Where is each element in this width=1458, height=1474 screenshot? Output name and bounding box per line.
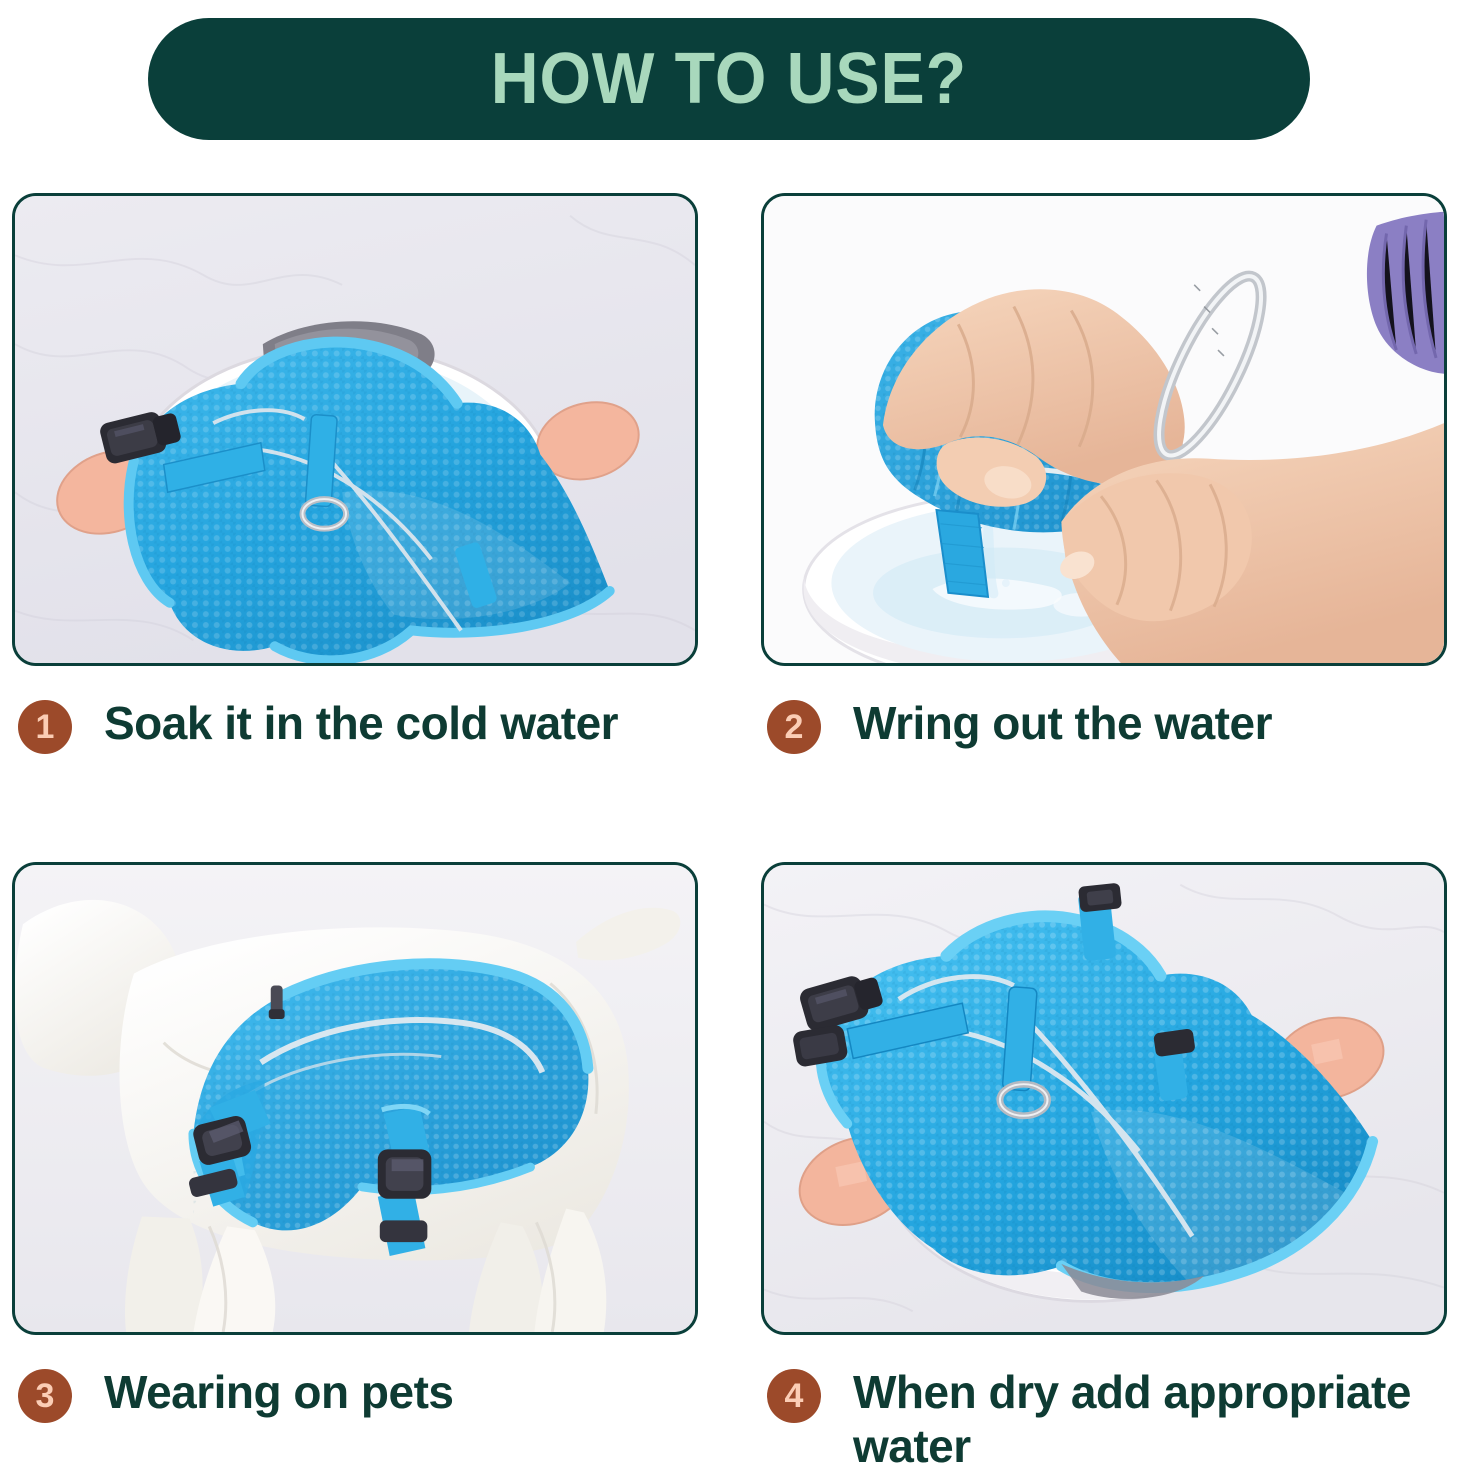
steps-grid: 1 Soak it in the cold water [0,0,1458,1458]
step-2-label: Wring out the water [853,696,1272,750]
step-3-photo [12,862,698,1335]
wringing-harness-illustration [764,196,1444,663]
harness-soaking-illustration [15,196,695,663]
step-1-caption: 1 Soak it in the cold water [12,696,712,754]
step-1-photo [12,193,698,666]
step-3-badge: 3 [18,1369,72,1423]
step-3-label: Wearing on pets [104,1365,453,1419]
step-1-badge: 1 [18,700,72,754]
step-card-2: 2 Wring out the water [761,193,1458,754]
step-4-label: When dry add appropriate water [853,1365,1453,1474]
step-3-caption: 3 Wearing on pets [12,1365,712,1423]
step-card-4: 4 When dry add appropriate water [761,862,1458,1474]
step-1-label: Soak it in the cold water [104,696,618,750]
strap-adjuster-top [1078,883,1122,913]
harness-in-basin-illustration [764,865,1444,1332]
step-card-1: 1 Soak it in the cold water [12,193,712,754]
step-card-3: 3 Wearing on pets [12,862,712,1423]
step-2-badge: 2 [767,700,821,754]
step-2-caption: 2 Wring out the water [761,696,1458,754]
step-4-caption: 4 When dry add appropriate water [761,1365,1458,1474]
zipper-pull [269,985,285,1019]
step-4-badge: 4 [767,1369,821,1423]
dog-wearing-harness-illustration [15,865,695,1332]
step-4-photo [761,862,1447,1335]
buckle-belly [378,1149,432,1198]
step-2-photo [761,193,1447,666]
